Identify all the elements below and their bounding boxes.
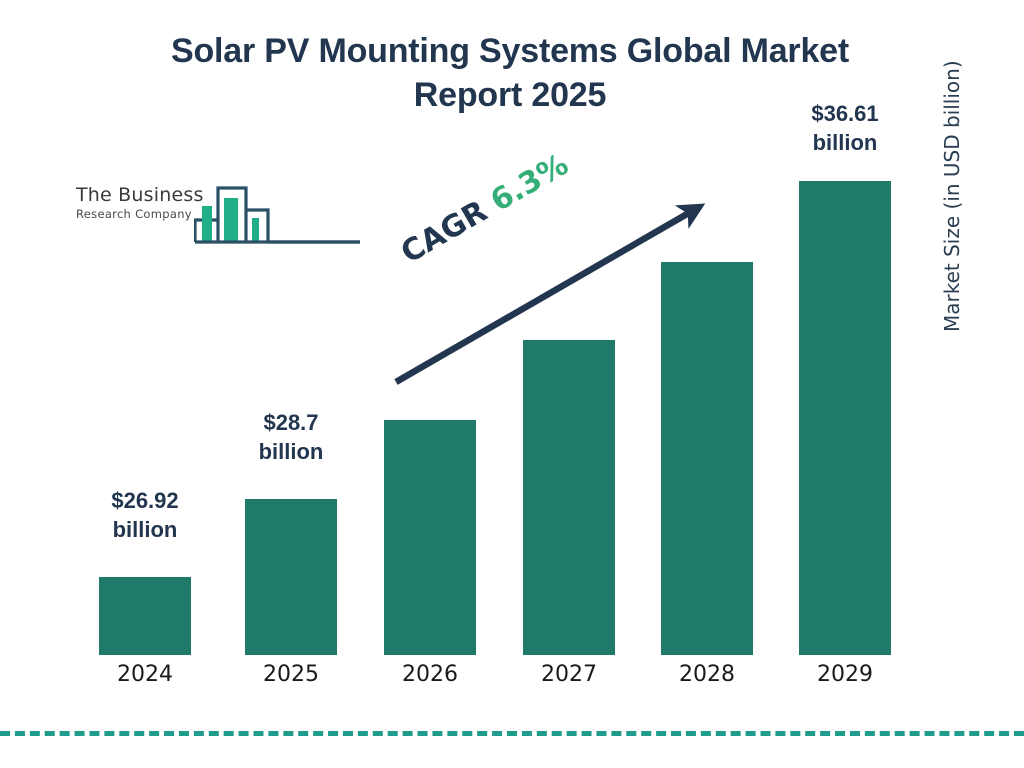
x-axis-label-2028: 2028	[661, 662, 753, 687]
bar-value-label-2029: $36.61 billion	[786, 100, 904, 157]
plot-area: $26.92 billion 2024 $28.7 billion 2025 2…	[0, 0, 1024, 768]
x-axis-label-2027: 2027	[523, 662, 615, 687]
bar-2024[interactable]	[99, 577, 191, 655]
x-axis-label-2024: 2024	[99, 662, 191, 687]
bar-value-amount-2029: $36.61	[786, 100, 904, 129]
bar-2025[interactable]	[245, 499, 337, 655]
bar-2029[interactable]	[799, 181, 891, 655]
bar-2028[interactable]	[661, 262, 753, 655]
bar-2027[interactable]	[523, 340, 615, 655]
footer-divider	[0, 731, 1024, 736]
y-axis-title: Market Size (in USD billion)	[940, 2, 964, 332]
bar-value-label-2024: $26.92 billion	[86, 487, 204, 544]
bar-value-amount-2024: $26.92	[86, 487, 204, 516]
bar-value-unit-2025: billion	[232, 438, 350, 467]
x-axis-label-2029: 2029	[799, 662, 891, 687]
bar-2026[interactable]	[384, 420, 476, 655]
bar-value-amount-2025: $28.7	[232, 409, 350, 438]
bar-value-unit-2029: billion	[786, 129, 904, 158]
x-axis-label-2026: 2026	[384, 662, 476, 687]
x-axis-label-2025: 2025	[245, 662, 337, 687]
bar-value-label-2025: $28.7 billion	[232, 409, 350, 466]
chart-canvas: Solar PV Mounting Systems Global Market …	[0, 0, 1024, 768]
bar-value-unit-2024: billion	[86, 516, 204, 545]
